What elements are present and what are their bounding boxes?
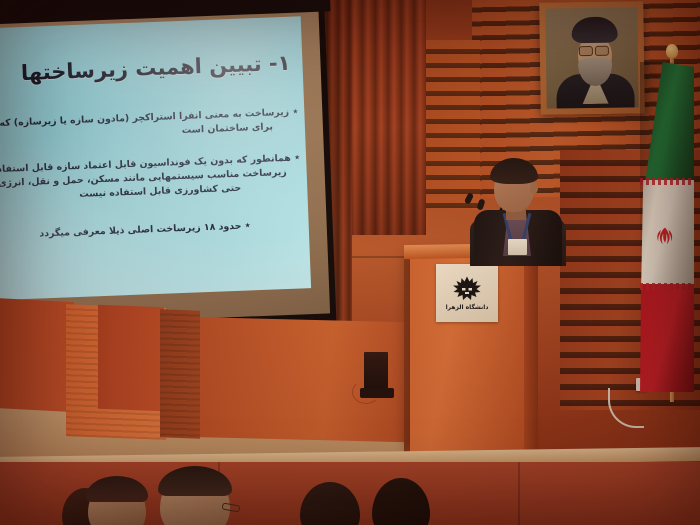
portrait-glasses-left bbox=[579, 46, 593, 56]
bullet-3-line-1: حدود ۱۸ زیرساخت اصلی ذیلا معرفی میگردد bbox=[39, 221, 241, 240]
stage-front-panel-c bbox=[98, 305, 164, 412]
conference-hall-photo: ۱- تبیین اهمیت زیرساختها ٭ زیرساخت به مع… bbox=[0, 0, 700, 525]
portrait-glasses-right bbox=[595, 46, 609, 56]
podium-right-edge bbox=[524, 250, 538, 450]
iran-emblem-icon bbox=[654, 226, 676, 248]
flag-finial-icon bbox=[666, 44, 678, 58]
slide-bullet-3: ٭ حدود ۱۸ زیرساخت اصلی ذیلا معرفی میگردد bbox=[39, 218, 251, 241]
presenter-figure bbox=[470, 150, 570, 260]
screen-surface: ۱- تبیین اهمیت زیرساختها ٭ زیرساخت به مع… bbox=[0, 16, 311, 300]
portrait-turban bbox=[571, 17, 617, 44]
stage-front-panel-a bbox=[0, 298, 74, 412]
podium-plaque-text: دانشگاه الزهرا bbox=[446, 304, 489, 311]
flag-band-red bbox=[640, 284, 694, 392]
stage-front-panel-d bbox=[160, 309, 200, 438]
slide-bullet-2: ٭ همانطور که بدون یک فونداسیون قابل اعتم… bbox=[0, 150, 301, 206]
podium-plaque: دانشگاه الزهرا bbox=[436, 264, 498, 322]
screen-border-mat: ۱- تبیین اهمیت زیرساختها ٭ زیرساخت به مع… bbox=[0, 0, 330, 326]
portrait-canvas bbox=[545, 7, 638, 108]
slide-bullet-1: ٭ زیرساخت به معنی انفرا استراکچر (مادون … bbox=[0, 104, 299, 146]
flag-band-green bbox=[640, 62, 694, 187]
star-lotus-emblem-icon bbox=[452, 276, 482, 302]
wall-portrait-frame bbox=[539, 1, 645, 114]
flag-kufic-band-top bbox=[640, 178, 694, 185]
equipment-cable bbox=[352, 380, 380, 404]
presenter-ear bbox=[530, 182, 538, 194]
presentation-slide: ۱- تبیین اهمیت زیرساختها ٭ زیرساخت به مع… bbox=[0, 16, 311, 300]
projection-screen: ۱- تبیین اهمیت زیرساختها ٭ زیرساخت به مع… bbox=[0, 0, 336, 335]
stage-wall-right bbox=[196, 317, 436, 443]
ledge-seam-2 bbox=[518, 462, 520, 525]
slide-title: ۱- تبیین اهمیت زیرساختها bbox=[21, 51, 291, 85]
iran-flag bbox=[640, 62, 694, 392]
presenter-hair bbox=[490, 158, 538, 184]
presenter-badge bbox=[508, 239, 527, 255]
flag-kufic-band-bottom bbox=[640, 283, 694, 290]
